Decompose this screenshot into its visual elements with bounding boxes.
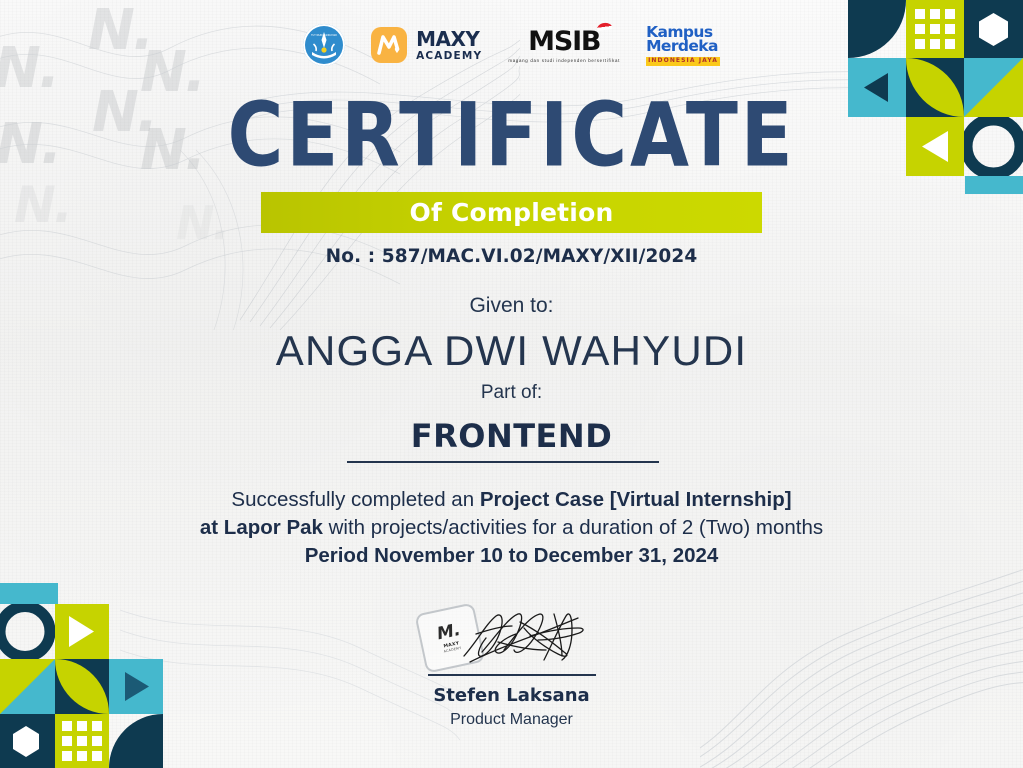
certificate-subtitle-banner: Of Completion: [261, 192, 762, 233]
kemdikbud-emblem-icon: TUT WURI HANDAYANI: [303, 24, 345, 66]
body-line-2: at Lapor Pak with projects/activities fo…: [0, 514, 1023, 542]
signature-line: [428, 674, 596, 676]
tut-wuri-handayani-icon: TUT WURI HANDAYANI: [307, 28, 341, 62]
maxy-wordmark: MAXY ACADEMY: [416, 29, 482, 62]
partner-logo-row: TUT WURI HANDAYANI MAXY ACADEMY MSIB mag…: [0, 24, 1023, 66]
maxy-name: MAXY: [416, 29, 482, 49]
kampus-merdeka-logo: Kampus Merdeka INDONESIA JAYA: [646, 25, 720, 66]
maxy-subname: ACADEMY: [416, 51, 482, 62]
msib-tagline: magang dan studi independen bersertifika…: [508, 58, 620, 63]
recipient-name: ANGGA DWI WAHYUDI: [0, 327, 1023, 375]
kampus-merdeka-line2: Merdeka: [646, 39, 720, 55]
certificate-number: No. : 587/MAC.VI.02/MAXY/XII/2024: [0, 246, 1023, 267]
signatory-role: Product Manager: [0, 711, 1023, 729]
msib-wordmark: MSIB: [528, 28, 600, 55]
kampus-merdeka-wordmark: Kampus Merdeka INDONESIA JAYA: [646, 25, 720, 66]
certificate-page: N. N. N. N. N. N. N. N.: [0, 0, 1023, 768]
signature-art: M. MAXY ACADEMY: [412, 604, 612, 672]
certificate-subtitle: Of Completion: [410, 198, 614, 227]
decoration-bottom-left-teal-strip: [0, 583, 58, 604]
body-line-1-plain: Successfully completed an: [231, 488, 479, 511]
body-line-1: Successfully completed an Project Case […: [0, 486, 1023, 514]
body-line-2-plain: with projects/activities for a duration …: [323, 516, 823, 539]
given-to-label: Given to:: [0, 294, 1023, 318]
body-line-2-bold: at Lapor Pak: [200, 516, 323, 539]
body-line-1-bold: Project Case [Virtual Internship]: [480, 488, 792, 511]
kemdikbud-logo: TUT WURI HANDAYANI: [303, 24, 345, 66]
kampus-merdeka-bar: INDONESIA JAYA: [646, 57, 720, 66]
svg-text:TUT WURI HANDAYANI: TUT WURI HANDAYANI: [311, 34, 337, 37]
program-name: FRONTEND: [0, 417, 1023, 455]
signatory-name: Stefen Laksana: [0, 685, 1023, 706]
maxy-academy-logo: MAXY ACADEMY: [371, 27, 482, 63]
program-divider: [347, 461, 659, 463]
maxy-m-icon: [377, 34, 401, 56]
certificate-title: CERTIFICATE: [36, 92, 987, 181]
msib-logo: MSIB magang dan studi independen bersert…: [508, 28, 620, 63]
part-of-label: Part of:: [0, 382, 1023, 404]
certificate-body: Successfully completed an Project Case […: [0, 486, 1023, 570]
maxy-badge-icon: [371, 27, 407, 63]
body-line-3: Period November 10 to December 31, 2024: [0, 542, 1023, 570]
signature-block: M. MAXY ACADEMY Stefe: [0, 604, 1023, 729]
watermark-mark: N.: [176, 196, 228, 250]
handwritten-signature-icon: [412, 604, 612, 672]
watermark-mark: N.: [14, 176, 71, 234]
